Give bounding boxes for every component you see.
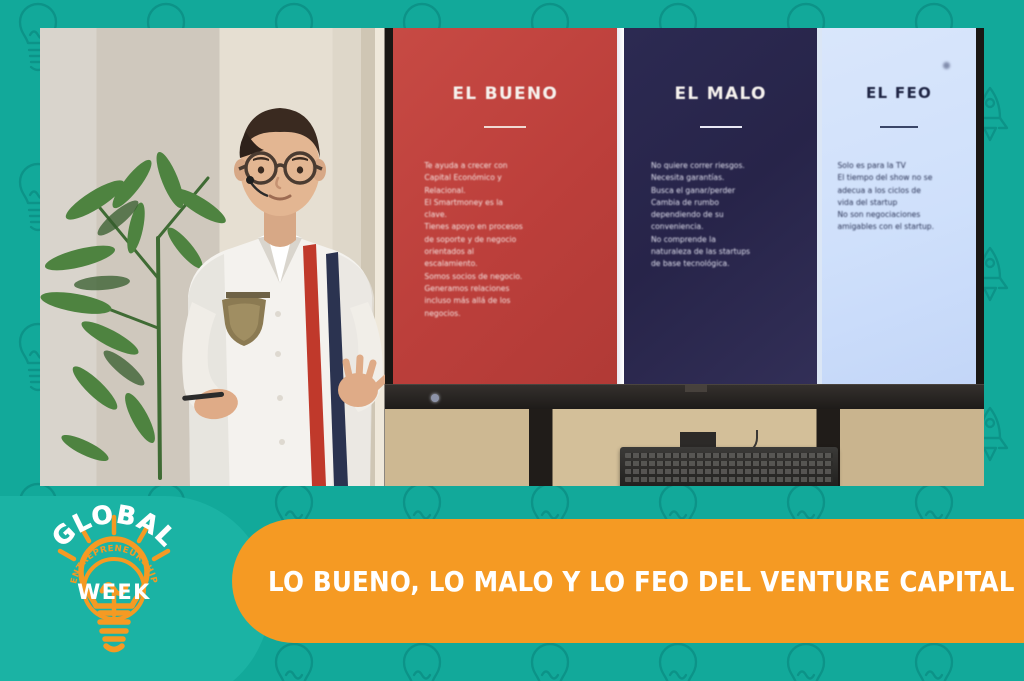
column-body-malo: No quiere correr riesgos. Necesita garan… bbox=[651, 160, 798, 271]
slide-column-feo: EL FEO Solo es para la TV El tiempo del … bbox=[822, 28, 976, 384]
column-body-feo: Solo es para la TV El tiempo del show no… bbox=[837, 160, 960, 234]
poster-canvas: EL BUENO Te ayuda a crecer con Capital E… bbox=[0, 0, 1024, 681]
svg-text:GLOBAL: GLOBAL bbox=[46, 503, 182, 552]
logo-global-text: GLOBAL bbox=[46, 503, 182, 552]
heading-rule bbox=[484, 126, 526, 128]
column-heading-feo: EL FEO bbox=[822, 84, 976, 102]
slide-column-bueno: EL BUENO Te ayuda a crecer con Capital E… bbox=[393, 28, 617, 384]
logo-week-text: WEEK bbox=[77, 580, 151, 604]
bezel-notch bbox=[685, 385, 707, 392]
slide-column-malo: EL MALO No quiere correr riesgos. Necesi… bbox=[624, 28, 818, 384]
presentation-photo: EL BUENO Te ayuda a crecer con Capital E… bbox=[40, 28, 984, 486]
slide-content: EL BUENO Te ayuda a crecer con Capital E… bbox=[393, 28, 976, 384]
title-banner: LO BUENO, LO MALO Y LO FEO DEL VENTURE C… bbox=[232, 519, 1024, 643]
column-body-bueno: Te ayuda a crecer con Capital Económico … bbox=[424, 160, 595, 320]
global-entrepreneurship-week-logo: ENTREPRENEURSHIP GLOBAL WEEK bbox=[34, 503, 194, 663]
page-title: LO BUENO, LO MALO Y LO FEO DEL VENTURE C… bbox=[268, 565, 1015, 598]
power-indicator-icon bbox=[431, 394, 439, 402]
heading-rule bbox=[700, 126, 742, 128]
screen-smudge bbox=[943, 62, 950, 69]
keyboard bbox=[620, 447, 838, 486]
heading-rule bbox=[880, 126, 918, 128]
display-bezel bbox=[385, 384, 984, 410]
wall-display: EL BUENO Te ayuda a crecer con Capital E… bbox=[385, 28, 984, 417]
column-heading-bueno: EL BUENO bbox=[393, 84, 617, 104]
column-heading-malo: EL MALO bbox=[624, 84, 818, 104]
